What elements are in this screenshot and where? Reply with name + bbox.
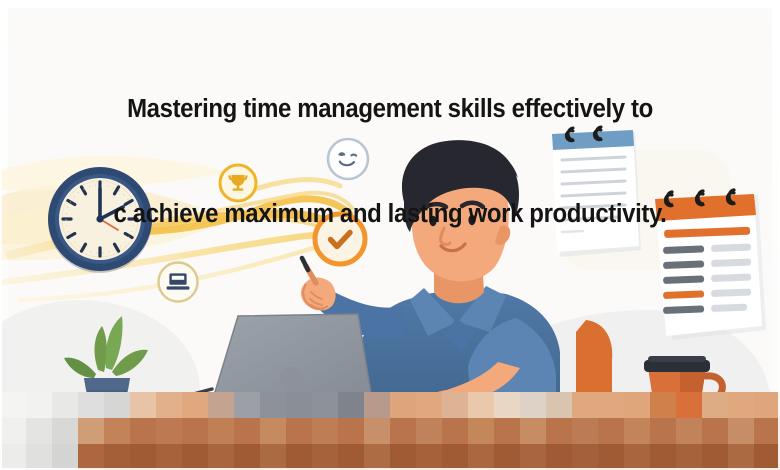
coffee-cup bbox=[644, 356, 722, 409]
wooden-desk bbox=[8, 406, 772, 452]
headline-line-1: Mastering time management skills effecti… bbox=[23, 92, 756, 127]
desk-pen bbox=[186, 389, 212, 396]
cup-handle bbox=[703, 376, 722, 400]
chair-back bbox=[576, 320, 612, 400]
potted-plant bbox=[64, 316, 148, 412]
laptop bbox=[196, 314, 390, 414]
page-title: Mastering time management skills effecti… bbox=[23, 22, 756, 302]
headline-line-2: c achieve maximum and lasting work produ… bbox=[23, 197, 756, 232]
book-bookmark bbox=[518, 398, 526, 414]
illustration-canvas: Mastering time management skills effecti… bbox=[0, 0, 780, 470]
